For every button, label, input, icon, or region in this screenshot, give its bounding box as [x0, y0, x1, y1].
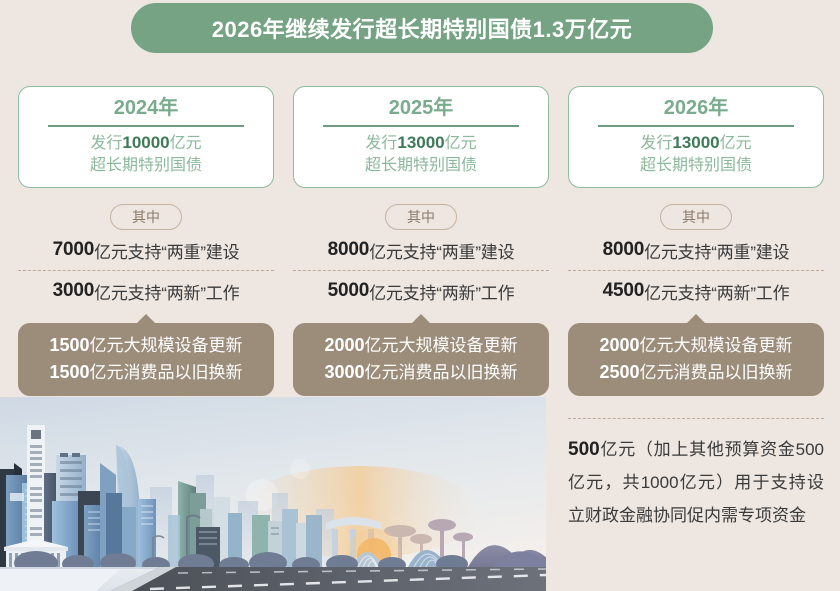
column-2025: 2025年 发行13000亿元 超长期特别国债 其中 8000亿元支持“两重”建…: [293, 86, 549, 396]
detail-text: 亿元支持“两新”工作: [94, 279, 239, 304]
detail-amount: 5000: [328, 280, 369, 302]
callout-amount: 3000: [324, 362, 364, 382]
callout-text: 亿元大规模设备更新: [640, 336, 793, 355]
year-card-2026: 2026年 发行13000亿元 超长期特别国债: [568, 86, 824, 188]
issue-prefix: 发行: [365, 135, 397, 152]
callout-line: 1500亿元消费品以旧换新: [18, 359, 274, 386]
callout-box: 2000亿元大规模设备更新 2500亿元消费品以旧换新: [568, 323, 824, 396]
page-title: 2026年继续发行超长期特别国债1.3万亿元: [212, 12, 633, 44]
issue-type-line: 超长期特别国债: [365, 155, 477, 177]
callout-amount: 1500: [49, 362, 89, 382]
detail-row: 4500亿元支持“两新”工作: [568, 271, 824, 311]
year-card-2025: 2025年 发行13000亿元 超长期特别国债: [293, 86, 549, 188]
year-label: 2026年: [664, 95, 729, 121]
column-2024: 2024年 发行10000亿元 超长期特别国债 其中 7000亿元支持“两重”建…: [18, 86, 274, 396]
callout-text: 亿元消费品以旧换新: [365, 363, 518, 382]
issue-amount: 10000: [122, 133, 169, 152]
callout-box: 2000亿元大规模设备更新 3000亿元消费品以旧换新: [293, 323, 549, 396]
callout-text: 亿元消费品以旧换新: [90, 363, 243, 382]
callout-amount: 2000: [599, 335, 639, 355]
pill-wrapper: 其中: [293, 204, 549, 230]
pill-wrapper: 其中: [568, 204, 824, 230]
detail-text: 亿元支持“两重”建设: [94, 238, 239, 263]
detail-amount: 4500: [603, 280, 644, 302]
infographic-page: 2026年继续发行超长期特别国债1.3万亿元 2024年 发行10000亿元 超…: [0, 0, 840, 591]
divider: [48, 125, 244, 127]
callout-amount: 1500: [49, 335, 89, 355]
year-card-2024: 2024年 发行10000亿元 超长期特别国债: [18, 86, 274, 188]
detail-amount: 8000: [328, 239, 369, 261]
dashed-divider: [293, 270, 549, 271]
year-label: 2024年: [114, 95, 179, 121]
callout-amount: 2500: [599, 362, 639, 382]
detail-amount: 7000: [53, 239, 94, 261]
callout-amount: 2000: [324, 335, 364, 355]
detail-text: 亿元支持“两重”建设: [644, 238, 789, 263]
divider: [598, 125, 794, 127]
title-banner: 2026年继续发行超长期特别国债1.3万亿元: [131, 3, 713, 53]
callout-line: 3000亿元消费品以旧换新: [293, 359, 549, 386]
detail-amount: 8000: [603, 239, 644, 261]
issue-suffix: 亿元: [445, 135, 477, 152]
detail-text: 亿元支持“两新”工作: [369, 279, 514, 304]
detail-row: 3000亿元支持“两新”工作: [18, 271, 274, 311]
detail-row: 8000亿元支持“两重”建设: [568, 230, 824, 270]
callout-line: 2000亿元大规模设备更新: [568, 332, 824, 359]
issue-amount-line: 发行10000亿元: [90, 132, 201, 155]
issue-amount-line: 发行13000亿元: [365, 132, 476, 155]
pill-wrapper: 其中: [18, 204, 274, 230]
detail-amount: 3000: [53, 280, 94, 302]
issue-amount: 13000: [672, 133, 719, 152]
callout-line: 1500亿元大规模设备更新: [18, 332, 274, 359]
among-which-pill: 其中: [660, 204, 732, 230]
callout-text: 亿元消费品以旧换新: [640, 363, 793, 382]
footnote-text: 亿元（加上其他预算资金500亿元，共1000亿元）用于支持设立财政金融协同促内需…: [568, 440, 824, 525]
dashed-divider: [568, 270, 824, 271]
divider: [323, 125, 519, 127]
detail-row: 5000亿元支持“两新”工作: [293, 271, 549, 311]
issue-type-line: 超长期特别国债: [640, 155, 752, 177]
issue-prefix: 发行: [90, 135, 122, 152]
detail-row: 7000亿元支持“两重”建设: [18, 230, 274, 270]
among-which-pill: 其中: [385, 204, 457, 230]
year-label: 2025年: [389, 95, 454, 121]
city-skyline-road-illustration: [0, 397, 546, 591]
detail-row: 8000亿元支持“两重”建设: [293, 230, 549, 270]
issue-prefix: 发行: [640, 135, 672, 152]
footnote: 500亿元（加上其他预算资金500亿元，共1000亿元）用于支持设立财政金融协同…: [568, 433, 824, 532]
detail-text: 亿元支持“两新”工作: [644, 279, 789, 304]
callout-text: 亿元大规模设备更新: [365, 336, 518, 355]
dashed-divider: [568, 418, 824, 419]
callout-text: 亿元大规模设备更新: [90, 336, 243, 355]
issue-amount-line: 发行13000亿元: [640, 132, 751, 155]
among-which-pill: 其中: [110, 204, 182, 230]
callout-line: 2000亿元大规模设备更新: [293, 332, 549, 359]
issue-type-line: 超长期特别国债: [90, 155, 202, 177]
footnote-amount: 500: [568, 439, 600, 460]
issue-suffix: 亿元: [720, 135, 752, 152]
callout-line: 2500亿元消费品以旧换新: [568, 359, 824, 386]
issue-suffix: 亿元: [170, 135, 202, 152]
issue-amount: 13000: [397, 133, 444, 152]
column-2026: 2026年 发行13000亿元 超长期特别国债 其中 8000亿元支持“两重”建…: [568, 86, 824, 532]
dashed-divider: [18, 270, 274, 271]
callout-box: 1500亿元大规模设备更新 1500亿元消费品以旧换新: [18, 323, 274, 396]
detail-text: 亿元支持“两重”建设: [369, 238, 514, 263]
